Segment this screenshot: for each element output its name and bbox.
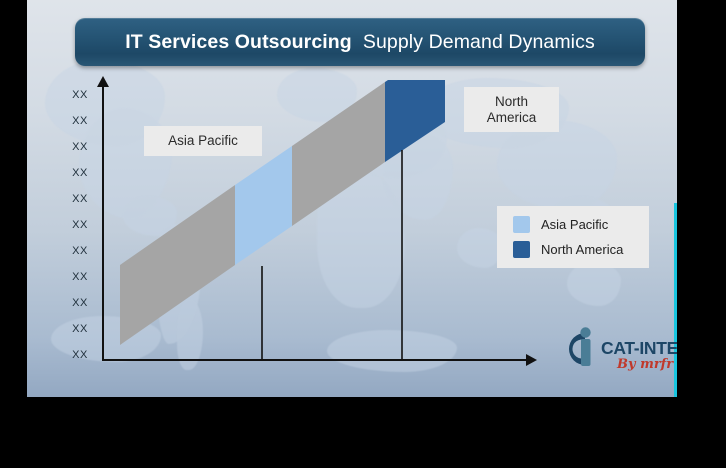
callout-north-america: North America bbox=[464, 87, 559, 132]
title-bold-part: IT Services Outsourcing bbox=[125, 31, 357, 53]
cat-intel-mark-icon bbox=[555, 326, 607, 372]
logo-wordmark: CAT-INTEL bbox=[601, 338, 677, 359]
legend-swatch-asia-pacific bbox=[513, 216, 530, 233]
logo-tagline: By mrfr bbox=[617, 357, 673, 372]
callout-asia-pacific: Asia Pacific bbox=[144, 126, 262, 156]
y-tick-label: XX bbox=[67, 219, 93, 231]
band-segment-asia-pacific bbox=[235, 146, 292, 265]
legend-swatch-north-america bbox=[513, 241, 530, 258]
legend-item-north-america: North America bbox=[497, 241, 649, 258]
legend-label-north-america: North America bbox=[541, 242, 623, 257]
y-tick-label: XX bbox=[67, 271, 93, 283]
chart-legend: Asia Pacific North America bbox=[497, 206, 649, 268]
legend-item-asia-pacific: Asia Pacific bbox=[497, 216, 649, 233]
y-tick-label: XX bbox=[67, 297, 93, 309]
brand-logo: CAT-INTEL By mrfr bbox=[555, 326, 677, 384]
y-tick-label: XX bbox=[67, 245, 93, 257]
band-segment-north-america bbox=[385, 80, 445, 162]
title-light-part: Supply Demand Dynamics bbox=[357, 31, 594, 53]
screenshot-root: IT Services Outsourcing Supply Demand Dy… bbox=[0, 0, 726, 468]
y-tick-label: XX bbox=[67, 167, 93, 179]
y-tick-label: XX bbox=[67, 141, 93, 153]
band-segment-grey-1 bbox=[120, 185, 235, 345]
y-tick-label: XX bbox=[67, 89, 93, 101]
callout-north-america-line2: America bbox=[487, 110, 537, 126]
y-tick-label: XX bbox=[67, 323, 93, 335]
band-segment-grey-2 bbox=[292, 82, 385, 226]
slide-canvas: IT Services Outsourcing Supply Demand Dy… bbox=[27, 0, 677, 397]
callout-north-america-line1: North bbox=[495, 94, 528, 110]
y-tick-label: XX bbox=[67, 193, 93, 205]
y-tick-label: XX bbox=[67, 349, 93, 361]
legend-label-asia-pacific: Asia Pacific bbox=[541, 217, 608, 232]
y-tick-label: XX bbox=[67, 115, 93, 127]
title-bar: IT Services Outsourcing Supply Demand Dy… bbox=[75, 18, 645, 66]
page-title: IT Services Outsourcing Supply Demand Dy… bbox=[125, 31, 595, 54]
callout-asia-pacific-label: Asia Pacific bbox=[168, 133, 238, 149]
